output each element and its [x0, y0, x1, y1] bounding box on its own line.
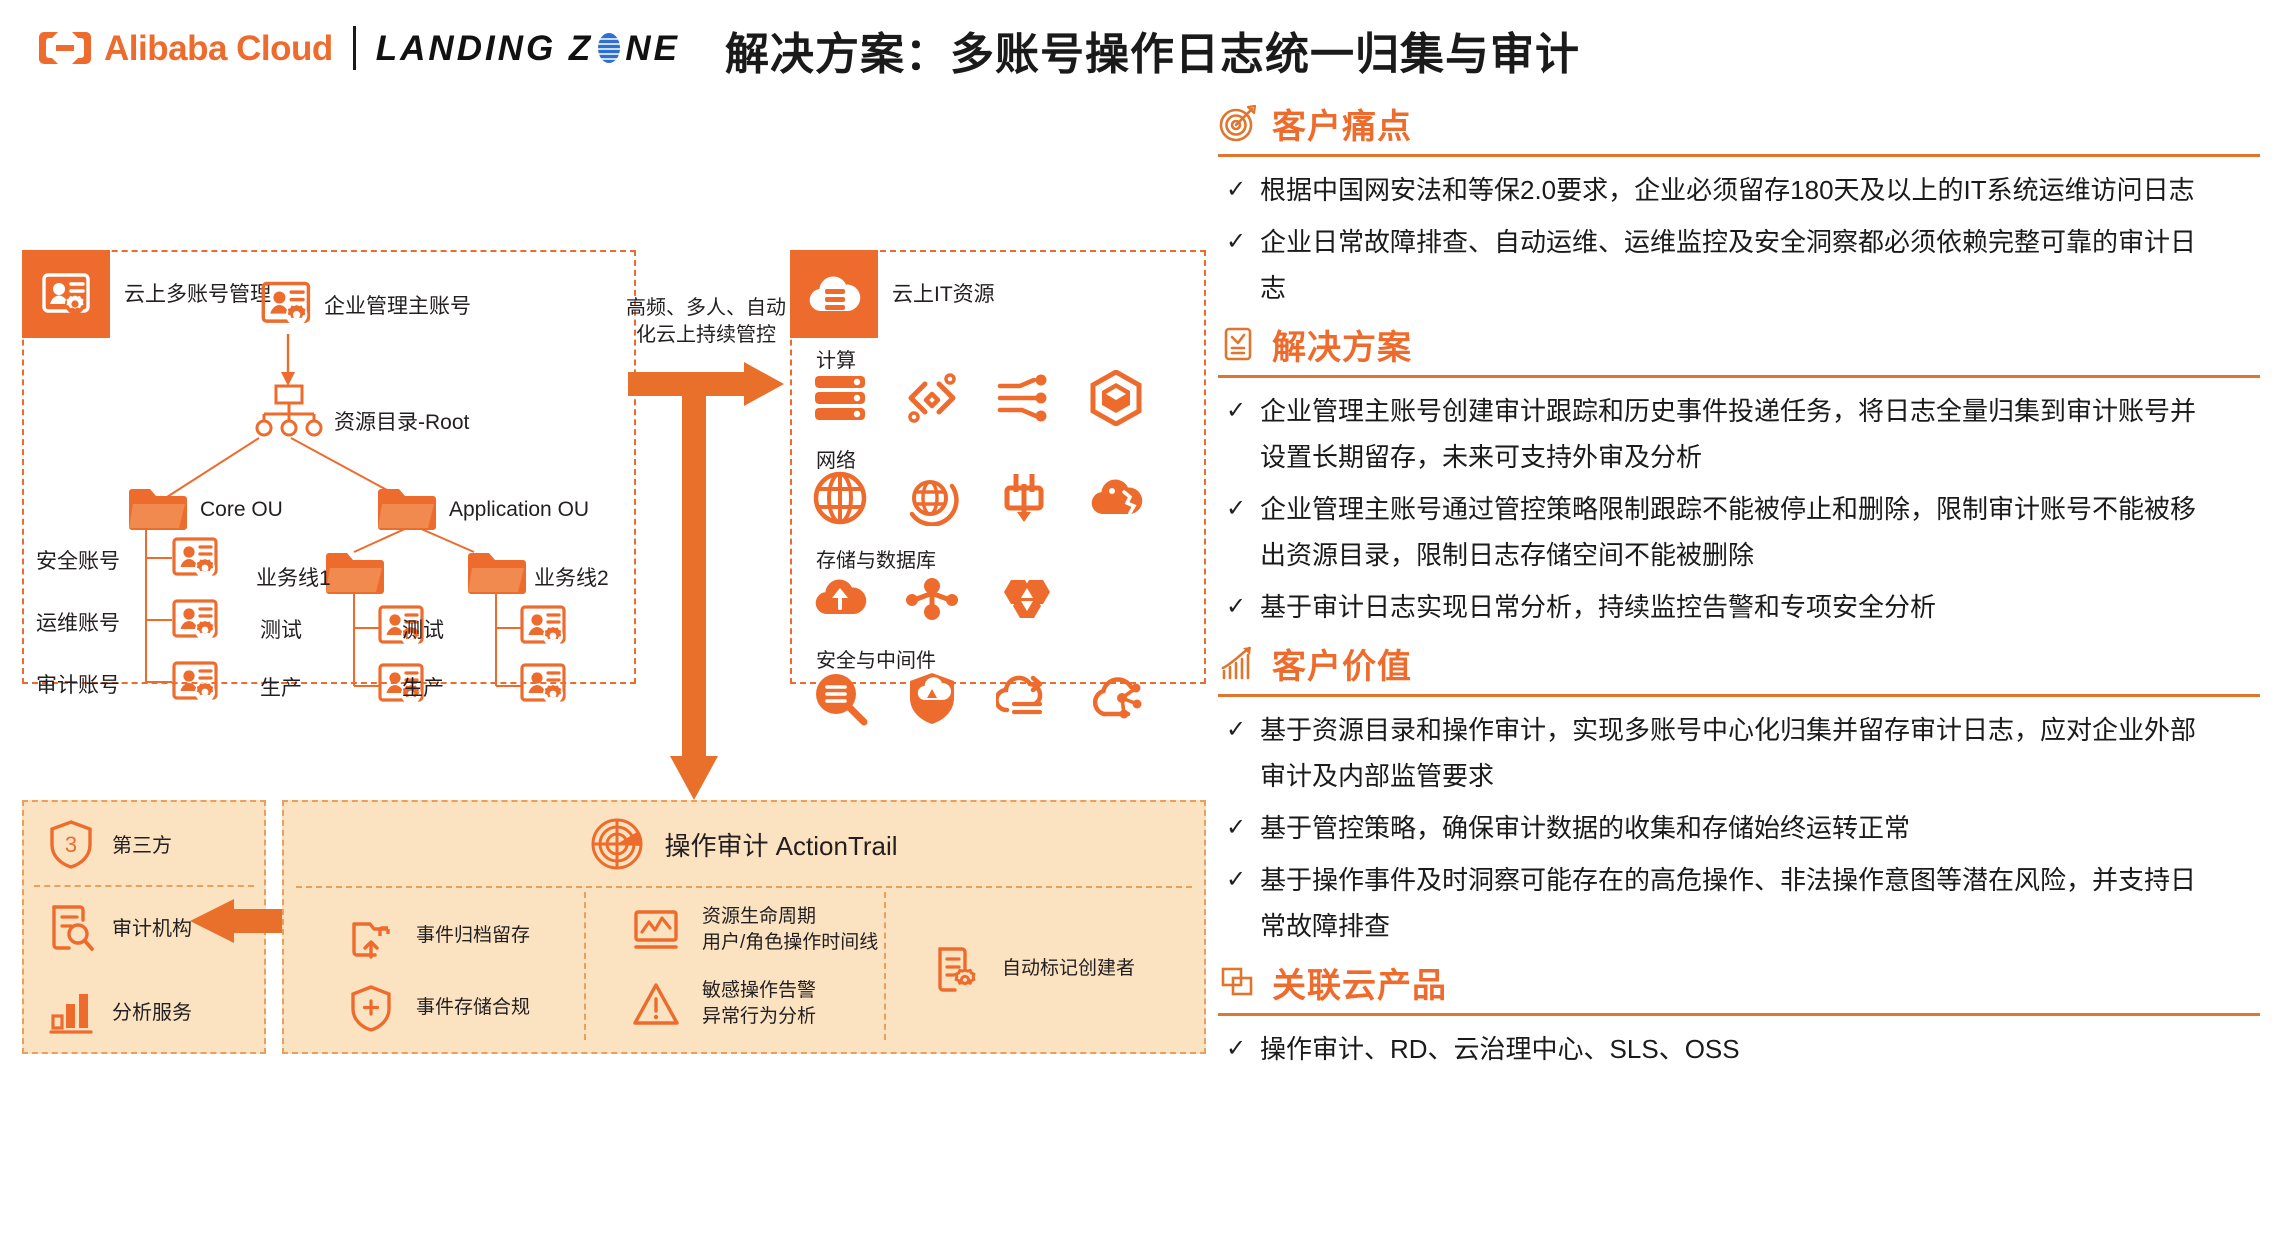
actiontrail-col-divider-2	[884, 892, 886, 1040]
master-account-label: 企业管理主账号	[324, 290, 471, 320]
section-bullets-3: ✓ 操作审计、RD、云治理中心、SLS、OSS	[1218, 1026, 2268, 1072]
section-solution: 解决方案 ✓ 企业管理主账号创建审计跟踪和历史事件投递任务，将日志全量归集到审计…	[1218, 317, 2268, 630]
biz2-child-label-0: 测试	[402, 614, 444, 644]
check-icon: ✓	[1218, 584, 1260, 630]
account-card-gear-icon	[22, 250, 110, 338]
section-bullets-0: ✓ 根据中国网安法和等保2.0要求，企业必须留存180天及以上的IT系统运维访问…	[1218, 167, 2268, 311]
cloud-group-label-1: 网络	[816, 444, 856, 473]
actiontrail-feature-1-label: 事件存储合规	[416, 995, 530, 1021]
landing-zone-wordmark: LANDING Z NE	[376, 31, 680, 66]
section-title-3: 关联云产品	[1272, 958, 1447, 1007]
section-pain-points: 客户痛点 ✓ 根据中国网安法和等保2.0要求，企业必须留存180天及以上的IT系…	[1218, 96, 2268, 311]
actiontrail-col-divider-1	[584, 892, 586, 1040]
section-title-1: 解决方案	[1272, 320, 1412, 369]
stacked-squares-icon	[1218, 962, 1258, 1002]
consumer-label-0: 第三方	[112, 829, 172, 858]
actiontrail-feature-0-label: 事件归档留存	[416, 923, 530, 949]
security-account-icon	[170, 532, 224, 586]
cdn-globe-icon	[904, 470, 960, 526]
application-ou-folder-icon	[376, 484, 438, 534]
actiontrail-feature-4[interactable]: 自动标记创建者	[932, 944, 1135, 994]
slide-root: Alibaba Cloud LANDING Z	[0, 0, 2282, 1258]
content-panel: 客户痛点 ✓ 根据中国网安法和等保2.0要求，企业必须留存180天及以上的IT系…	[1218, 96, 2268, 1078]
landing-zone-text-a: LANDING Z	[376, 31, 594, 66]
actiontrail-feature-3-line-1: 异常行为分析	[702, 1004, 816, 1030]
multi-account-box: 云上多账号管理 企业管理主账号	[22, 250, 636, 684]
actiontrail-feature-0[interactable]: 事件归档留存	[348, 912, 530, 960]
section-title-2: 客户价值	[1272, 639, 1412, 688]
core-ou-label: Core OU	[200, 498, 283, 522]
consumer-row-2[interactable]: 分析服务	[24, 969, 264, 1052]
multi-account-box-title: 云上多账号管理	[124, 278, 271, 308]
flow-caption-line-0: 高频、多人、自动	[626, 295, 786, 322]
flow-caption-line-1: 化云上持续管控	[626, 322, 786, 349]
biz1-child-label-1: 生产	[260, 672, 302, 702]
cloud-connect-icon	[1088, 470, 1144, 526]
actiontrail-feature-2[interactable]: 资源生命周期 用户/角色操作时间线	[632, 904, 878, 955]
bullet-text: 基于资源目录和操作审计，实现多账号中心化归集并留存审计日志，应对企业外部审计及内…	[1260, 707, 2220, 799]
biz2-child-label-1: 生产	[402, 672, 444, 702]
actiontrail-feature-4-label: 自动标记创建者	[1002, 956, 1135, 982]
bullet-text: 企业管理主账号创建审计跟踪和历史事件投递任务，将日志全量归集到审计账号并设置长期…	[1260, 388, 2220, 480]
flow-arrow-caption: 高频、多人、自动 化云上持续管控	[626, 295, 786, 349]
bullet-item: ✓ 企业日常故障排查、自动运维、运维监控及安全洞察都必须依赖完整可靠的审计日志	[1218, 219, 2268, 311]
doc-gear-icon	[932, 944, 980, 994]
warning-triangle-icon	[632, 980, 680, 1028]
actiontrail-box: 操作审计 ActionTrail 事件归档留存	[282, 800, 1206, 1054]
bullet-item: ✓ 基于资源目录和操作审计，实现多账号中心化归集并留存审计日志，应对企业外部审计…	[1218, 707, 2268, 799]
check-icon: ✓	[1218, 219, 1260, 265]
bullet-item: ✓ 企业管理主账号创建审计跟踪和历史事件投递任务，将日志全量归集到审计账号并设置…	[1218, 388, 2268, 480]
section-header-2: 客户价值	[1218, 636, 2268, 690]
check-icon: ✓	[1218, 1026, 1260, 1072]
cloud-shield-icon	[904, 670, 960, 726]
check-icon: ✓	[1218, 805, 1260, 851]
section-header-3: 关联云产品	[1218, 955, 2268, 1009]
down-flow-arrow	[668, 390, 720, 800]
section-customer-value: 客户价值 ✓ 基于资源目录和操作审计，实现多账号中心化归集并留存审计日志，应对企…	[1218, 636, 2268, 949]
cloud-box-title: 云上IT资源	[892, 278, 995, 308]
server-stack-icon	[812, 370, 868, 426]
actiontrail-feature-1[interactable]: 事件存储合规	[348, 984, 530, 1032]
bar-chart-icon	[48, 985, 94, 1035]
section-bullets-1: ✓ 企业管理主账号创建审计跟踪和历史事件投递任务，将日志全量归集到审计账号并设置…	[1218, 388, 2268, 630]
growth-chart-icon	[1218, 643, 1258, 683]
actiontrail-title: 操作审计 ActionTrail	[664, 826, 897, 863]
cloud-group-label-2: 存储与数据库	[816, 544, 936, 573]
bullet-text: 企业日常故障排查、自动运维、运维监控及安全洞察都必须依赖完整可靠的审计日志	[1260, 219, 2220, 311]
biz1-child-label-0: 测试	[260, 614, 302, 644]
actiontrail-header-divider	[296, 886, 1192, 888]
biz-line-2-label: 业务线2	[534, 562, 609, 592]
section-rule-0	[1218, 154, 2260, 157]
bullet-text: 基于审计日志实现日常分析，持续监控告警和专项安全分析	[1260, 584, 1936, 630]
audit-doc-search-icon	[48, 902, 94, 952]
check-icon: ✓	[1218, 167, 1260, 213]
section-related-products: 关联云产品 ✓ 操作审计、RD、云治理中心、SLS、OSS	[1218, 955, 2268, 1072]
ops-account-icon	[170, 594, 224, 648]
page-title: 解决方案：多账号操作日志统一归集与审计	[725, 18, 1580, 82]
vpc-router-icon	[996, 470, 1052, 526]
actiontrail-header: 操作审计 ActionTrail	[284, 802, 1204, 886]
core-ou-folder-icon	[127, 484, 189, 534]
section-rule-2	[1218, 694, 2260, 697]
bullet-item: ✓ 基于审计日志实现日常分析，持续监控告警和专项安全分析	[1218, 584, 2268, 630]
logo-lockup: Alibaba Cloud LANDING Z	[38, 20, 680, 76]
bullet-text: 基于管控策略，确保审计数据的收集和存储始终运转正常	[1260, 805, 1910, 851]
biz-line-1-folder-icon	[324, 548, 386, 598]
biz-line-1-label: 业务线1	[256, 562, 331, 592]
globe-grid-icon	[812, 470, 868, 526]
core-account-label-0: 安全账号	[36, 545, 120, 575]
actiontrail-feature-3[interactable]: 敏感操作告警 异常行为分析	[632, 978, 816, 1029]
monitor-chart-icon	[632, 906, 680, 954]
consumer-label-1: 审计机构	[112, 912, 192, 941]
application-ou-label: Application OU	[449, 498, 589, 522]
log-search-icon	[812, 670, 868, 726]
core-account-label-2: 审计账号	[36, 669, 120, 699]
bullet-item: ✓ 企业管理主账号通过管控策略限制跟踪不能被停止和删除，限制审计账号不能被移出资…	[1218, 486, 2268, 578]
bullet-item: ✓ 根据中国网安法和等保2.0要求，企业必须留存180天及以上的IT系统运维访问…	[1218, 167, 2268, 213]
bullet-text: 企业管理主账号通过管控策略限制跟踪不能被停止和删除，限制审计账号不能被移出资源目…	[1260, 486, 2220, 578]
cloud-group-label-3: 安全与中间件	[816, 644, 936, 673]
zone-globe-icon	[594, 31, 624, 65]
biz2-prod-account-icon	[518, 658, 572, 712]
biz2-test-account-icon	[518, 600, 572, 654]
section-header-1: 解决方案	[1218, 317, 2268, 371]
section-rule-1	[1218, 375, 2260, 378]
actiontrail-feature-2-line-0: 资源生命周期	[702, 904, 878, 930]
cloud-sync-icon	[996, 670, 1052, 726]
section-header-0: 客户痛点	[1218, 96, 2268, 150]
shield-three-icon: 3	[48, 819, 94, 869]
bullet-item: ✓ 操作审计、RD、云治理中心、SLS、OSS	[1218, 1026, 2268, 1072]
logo-divider	[353, 26, 356, 70]
check-icon: ✓	[1218, 486, 1260, 532]
hex-database-icon	[996, 570, 1052, 626]
bullet-item: ✓ 基于管控策略，确保审计数据的收集和存储始终运转正常	[1218, 805, 2268, 851]
actiontrail-feature-3-line-0: 敏感操作告警	[702, 978, 816, 1004]
bullet-text: 基于操作事件及时洞察可能存在的高危操作、非法操作意图等潜在风险，并支持日常故障排…	[1260, 857, 2220, 949]
core-account-label-1: 运维账号	[36, 607, 120, 637]
archive-upload-icon	[348, 912, 394, 960]
database-node-icon	[904, 570, 960, 626]
alibaba-cloud-mark-icon	[38, 29, 92, 67]
cloud-it-resources-box: 云上IT资源 计算	[790, 250, 1206, 684]
section-bullets-2: ✓ 基于资源目录和操作审计，实现多账号中心化归集并留存审计日志，应对企业外部审计…	[1218, 707, 2268, 949]
master-to-root-arrow	[276, 334, 300, 386]
section-title-0: 客户痛点	[1272, 99, 1412, 148]
alibaba-cloud-wordmark: Alibaba Cloud	[104, 31, 333, 66]
elastic-compute-icon	[996, 370, 1052, 426]
check-icon: ✓	[1218, 707, 1260, 753]
bullet-text: 根据中国网安法和等保2.0要求，企业必须留存180天及以上的IT系统运维访问日志	[1260, 167, 2195, 213]
master-account-icon	[259, 276, 317, 334]
svg-text:3: 3	[65, 832, 77, 857]
biz-line-2-folder-icon	[466, 548, 528, 598]
cloud-mesh-icon	[1088, 670, 1144, 726]
shield-plus-icon	[348, 984, 394, 1032]
bullet-item: ✓ 基于操作事件及时洞察可能存在的高危操作、非法操作意图等潜在风险，并支持日常故…	[1218, 857, 2268, 949]
check-icon: ✓	[1218, 857, 1260, 903]
slide-header: Alibaba Cloud LANDING Z	[0, 0, 2282, 92]
actiontrail-feature-2-line-1: 用户/角色操作时间线	[702, 930, 878, 956]
cloud-storage-icon	[812, 570, 868, 626]
consumer-label-2: 分析服务	[112, 996, 192, 1025]
cloud-server-icon	[790, 250, 878, 338]
checklist-icon	[1218, 324, 1258, 364]
landing-zone-text-b: NE	[625, 31, 680, 66]
audit-account-icon	[170, 656, 224, 710]
cloud-group-label-0: 计算	[816, 344, 856, 373]
architecture-diagram: 云上多账号管理 企业管理主账号	[0, 90, 1215, 1180]
check-icon: ✓	[1218, 388, 1260, 434]
cube-node-icon	[1088, 370, 1144, 426]
target-icon	[1218, 103, 1258, 143]
radar-target-icon	[590, 817, 644, 871]
bullet-text: 操作审计、RD、云治理中心、SLS、OSS	[1260, 1026, 1740, 1072]
consumer-row-0[interactable]: 3 第三方	[24, 802, 264, 885]
section-rule-3	[1218, 1013, 2260, 1016]
container-service-icon	[904, 370, 960, 426]
